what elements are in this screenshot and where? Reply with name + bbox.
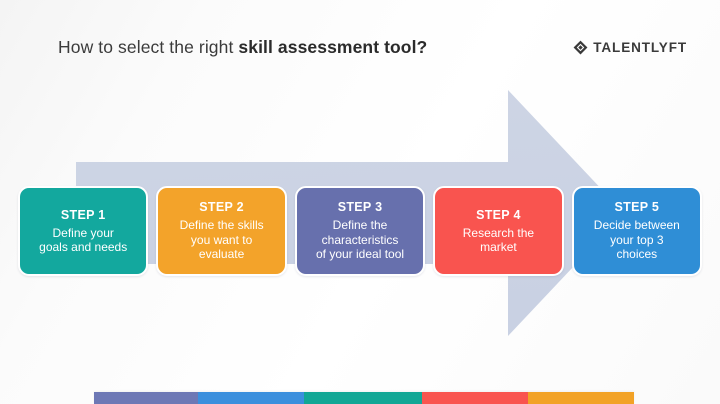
page-title-prefix: How to select the right [58, 37, 238, 57]
talentlyft-diamond-icon [573, 40, 588, 55]
step-desc-line: your top 3 [594, 233, 680, 248]
step-title: STEP 2 [199, 200, 244, 215]
step-description: Define the skills you want to evaluate [180, 218, 264, 262]
step-box-4[interactable]: STEP 4 Research the market [433, 186, 563, 276]
step-desc-line: you want to [180, 233, 264, 248]
brand-logo-text: TALENTLYFT [593, 40, 687, 55]
step-box-5[interactable]: STEP 5 Decide between your top 3 choices [572, 186, 702, 276]
slide-canvas: How to select the right skill assessment… [0, 0, 720, 404]
color-segment-4 [422, 392, 528, 404]
color-segment-5 [528, 392, 634, 404]
step-desc-line: Define the skills [180, 218, 264, 233]
step-desc-line: market [463, 240, 534, 255]
step-desc-line: Define your [39, 226, 127, 241]
step-description: Decide between your top 3 choices [594, 218, 680, 262]
step-description: Research the market [463, 226, 534, 255]
brand-logo: TALENTLYFT [573, 38, 687, 56]
step-title: STEP 4 [476, 208, 521, 223]
color-segment-1 [94, 392, 198, 404]
step-title: STEP 3 [338, 200, 383, 215]
step-desc-line: choices [594, 247, 680, 262]
color-segment-3 [304, 392, 422, 404]
step-description: Define the characteristics of your ideal… [316, 218, 404, 262]
step-desc-line: Define the [316, 218, 404, 233]
step-description: Define your goals and needs [39, 226, 127, 255]
step-box-1[interactable]: STEP 1 Define your goals and needs [18, 186, 148, 276]
step-desc-line: of your ideal tool [316, 247, 404, 262]
step-desc-line: Research the [463, 226, 534, 241]
step-box-2[interactable]: STEP 2 Define the skills you want to eva… [156, 186, 286, 276]
step-box-3[interactable]: STEP 3 Define the characteristics of you… [295, 186, 425, 276]
step-desc-line: characteristics [316, 233, 404, 248]
step-title: STEP 1 [61, 208, 106, 223]
bottom-color-bar [94, 392, 634, 404]
step-title: STEP 5 [615, 200, 660, 215]
steps-row: STEP 1 Define your goals and needs STEP … [18, 186, 702, 276]
color-segment-2 [198, 392, 304, 404]
page-title: How to select the right skill assessment… [58, 36, 427, 58]
page-title-emphasis: skill assessment tool? [238, 37, 427, 57]
step-desc-line: evaluate [180, 247, 264, 262]
step-desc-line: goals and needs [39, 240, 127, 255]
step-desc-line: Decide between [594, 218, 680, 233]
